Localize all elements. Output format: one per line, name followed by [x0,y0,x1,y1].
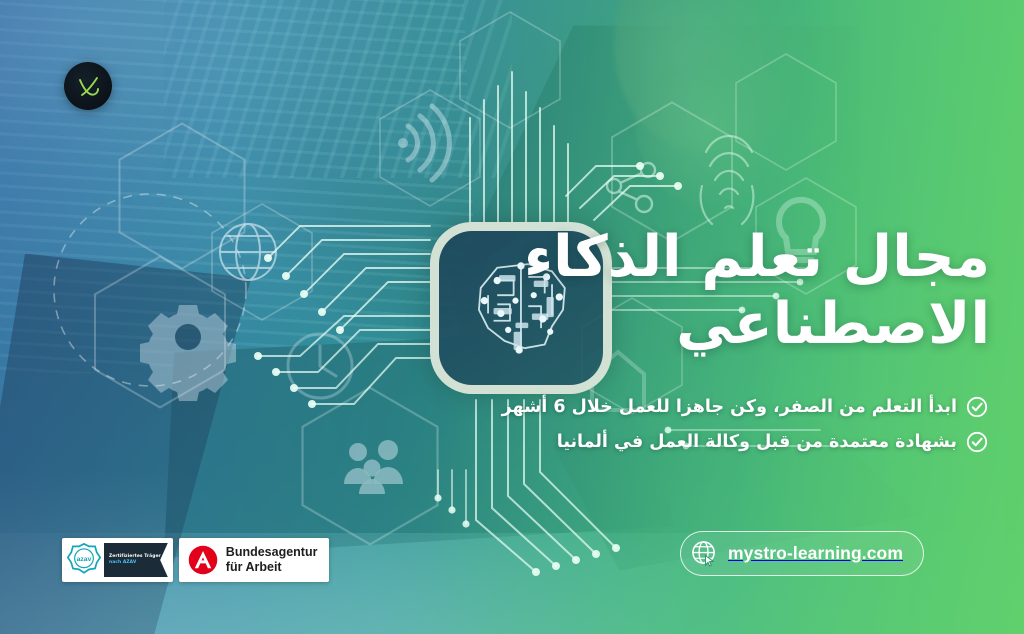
list-item: ابدأ التعلم من الصفر، وكن جاهزا للعمل خل… [536,396,988,418]
mystro-brand-mark-icon [71,69,105,103]
check-circle-icon [966,431,988,453]
check-circle-icon [966,396,988,418]
certification-seal-icon: azav [67,543,101,577]
headline-line-2: الاصطناعي [520,291,990,358]
wifi-signal-hexagon-icon [398,106,449,180]
network-share-icon [607,163,655,212]
list-item-label: ابدأ التعلم من الصفر، وكن جاهزا للعمل خل… [502,397,957,417]
bundesagentur-line-2: für Arbeit [226,560,318,575]
bundesagentur-logo: Bundesagentur für Arbeit [179,538,330,582]
globe-cursor-icon [691,540,718,567]
website-url-label: mystro-learning.com [728,543,903,564]
headline-line-1: مجال تعلم الذكاء [524,224,990,290]
globe-hexagon-icon [220,224,276,280]
page-title: مجال تعلم الذكاء الاصطناعي [520,224,990,359]
bundesagentur-line-1: Bundesagentur [226,545,318,560]
brand-logo[interactable] [64,62,112,110]
bundesagentur-label: Bundesagentur für Arbeit [226,545,318,575]
certification-seal: azav Zertifiziertes Träger nach AZAV [62,538,173,582]
list-item-label: بشهادة معتمدة من قبل وكالة العمل في ألما… [557,432,957,452]
certification-logos: Bundesagentur für Arbeit azav Zertifizie… [62,538,329,582]
website-url-badge[interactable]: mystro-learning.com [680,531,924,576]
list-item: بشهادة معتمدة من قبل وكالة العمل في ألما… [536,431,988,453]
seal-flag-line-2: nach AZAV [109,560,161,566]
bundesagentur-logo-icon [188,545,218,575]
people-group-hexagon-icon [344,440,403,494]
seal-text: azav [77,556,92,563]
gear-hexagon-icon [140,305,236,401]
promo-banner: مجال تعلم الذكاء الاصطناعي ابدأ التعلم م… [0,0,1024,634]
feature-list: ابدأ التعلم من الصفر، وكن جاهزا للعمل خل… [536,396,988,466]
certification-flag: Zertifiziertes Träger nach AZAV [104,543,168,577]
